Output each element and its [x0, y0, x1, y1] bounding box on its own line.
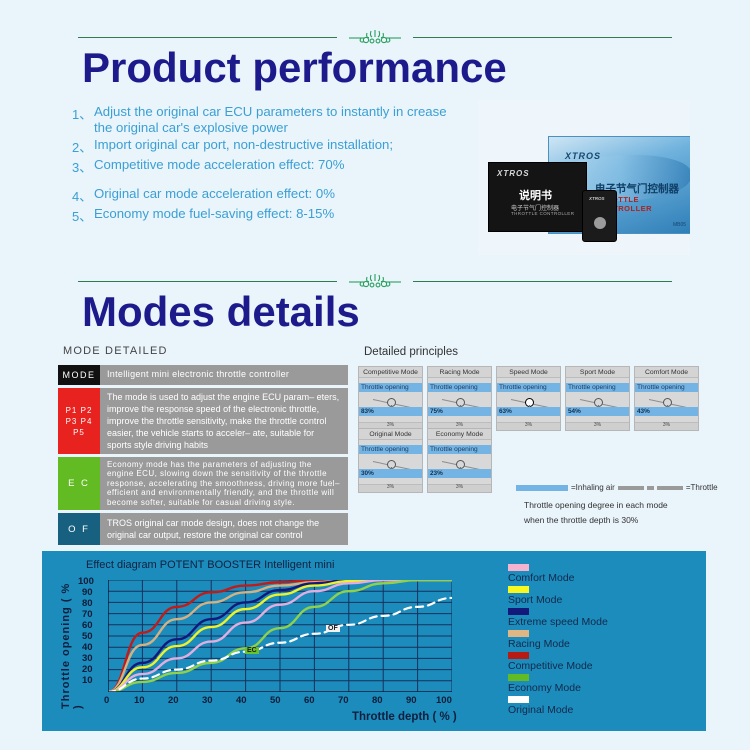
- list-item-text: Adjust the original car ECU parameters t…: [94, 104, 467, 136]
- effect-diagram-chart: Effect diagram POTENT BOOSTER Intelligen…: [42, 551, 706, 731]
- chart-title: Effect diagram POTENT BOOSTER Intelligen…: [86, 559, 334, 571]
- throttle-opening-band: Throttle opening: [497, 383, 560, 392]
- y-tick-label: 80: [82, 598, 93, 609]
- legend-note-line-1: Throttle opening degree in each mode: [524, 498, 731, 513]
- percent-band: 43%: [635, 407, 698, 416]
- foot-label: 3%: [663, 422, 670, 428]
- legend-item: Extreme speed Mode: [508, 608, 703, 629]
- legend-swatch: [508, 696, 529, 703]
- table-row: MODE Intelligent mini electronic throttl…: [58, 365, 348, 385]
- list-item-text: Competitive mode acceleration effect: 70…: [94, 157, 344, 176]
- throttle-dial-icon: [663, 398, 672, 407]
- throttle-opening-band: Throttle opening: [566, 383, 629, 392]
- chart-legend: Comfort Mode Sport Mode Extreme speed Mo…: [508, 564, 703, 718]
- throttle-swatch-c: [657, 486, 683, 490]
- throttle-label: =Throttle: [686, 483, 718, 492]
- list-item: 3、 Competitive mode acceleration effect:…: [72, 157, 467, 176]
- page-title-product-performance: Product performance: [82, 44, 507, 92]
- legend-item: Comfort Mode: [508, 564, 703, 585]
- x-tick-label: 40: [236, 695, 247, 706]
- device-brand-logo: XTROS: [589, 196, 605, 201]
- product-manual: XTROS 说明书 电子节气门控制器 THROTTLE CONTROLLER: [488, 162, 587, 232]
- throttle-dial-icon: [594, 398, 603, 407]
- x-tick-label: 80: [372, 695, 383, 706]
- list-item-text: Original car mode acceleration effect: 0…: [94, 186, 335, 205]
- foot-label: 3%: [594, 422, 601, 428]
- mode-card: Speed Mode Throttle opening 63% 3%: [496, 366, 561, 431]
- divider-line-left: [78, 37, 337, 38]
- mode-key: P1 P2 P3 P4 P5: [58, 388, 100, 454]
- list-item-text: Import original car port, non-destructiv…: [94, 137, 393, 156]
- list-item: 1、 Adjust the original car ECU parameter…: [72, 104, 467, 136]
- principles-legend: =Inhaling air =Throttle Throttle opening…: [516, 483, 731, 528]
- mode-card-body: Throttle opening 63%: [497, 378, 560, 422]
- mode-card-body: Throttle opening 43%: [635, 378, 698, 422]
- throttle-dial-icon: [387, 398, 396, 407]
- x-tick-label: 0: [104, 695, 109, 706]
- throttle-dial-icon: [456, 460, 465, 469]
- y-tick-label: 90: [82, 587, 93, 598]
- percent-band: 83%: [359, 407, 422, 416]
- x-tick-label: 10: [134, 695, 145, 706]
- chart-x-axis-label: Throttle depth ( % ): [352, 711, 457, 723]
- mode-card-foot: 3%: [428, 484, 491, 492]
- mode-key: O F: [58, 513, 100, 545]
- legend-label: Sport Mode: [508, 594, 703, 607]
- list-item: 2、 Import original car port, non-destruc…: [72, 137, 467, 156]
- mode-card-body: Throttle opening 23%: [428, 440, 491, 484]
- y-tick-label: 100: [78, 576, 94, 587]
- throttle-opening-band: Throttle opening: [428, 383, 491, 392]
- mode-card: Economy Mode Throttle opening 23% 3%: [427, 428, 492, 493]
- legend-item: Original Mode: [508, 696, 703, 717]
- device-button-icon: [594, 217, 606, 229]
- box-code: MB05: [673, 222, 686, 228]
- mode-card: Racing Mode Throttle opening 75% 3%: [427, 366, 492, 431]
- mode-card: Comfort Mode Throttle opening 43% 3%: [634, 366, 699, 431]
- mode-card-body: Throttle opening 83%: [359, 378, 422, 422]
- mode-card-body: Throttle opening 30%: [359, 440, 422, 484]
- list-item-number: 4、: [72, 186, 94, 205]
- legend-item: Sport Mode: [508, 586, 703, 607]
- mode-key: MODE: [58, 365, 100, 385]
- throttle-swatch-a: [618, 486, 644, 490]
- x-tick-label: 50: [270, 695, 281, 706]
- throttle-dial-icon: [525, 398, 534, 407]
- mode-card-title: Sport Mode: [566, 367, 629, 378]
- throttle-opening-band: Throttle opening: [359, 445, 422, 454]
- foot-label: 3%: [387, 484, 394, 490]
- table-row: E C Economy mode has the parameters of a…: [58, 457, 348, 510]
- legend-label: Comfort Mode: [508, 572, 703, 585]
- legend-swatch: [508, 586, 529, 593]
- chart-annotation-of: OF: [326, 625, 340, 632]
- y-tick-label: 10: [82, 675, 93, 686]
- inhaling-air-label: =Inhaling air: [571, 483, 615, 492]
- manual-sub-en: THROTTLE CONTROLLER: [511, 211, 574, 216]
- mode-detailed-table: MODE Intelligent mini electronic throttl…: [58, 365, 348, 548]
- mode-card-title: Racing Mode: [428, 367, 491, 378]
- legend-swatch: [508, 630, 529, 637]
- mode-card-foot: 3%: [497, 422, 560, 430]
- y-tick-label: 20: [82, 664, 93, 675]
- mode-description: TROS original car mode design, does not …: [100, 513, 348, 545]
- mode-card: Sport Mode Throttle opening 54% 3%: [565, 366, 630, 431]
- x-tick-label: 90: [406, 695, 417, 706]
- product-device: XTROS: [582, 190, 617, 242]
- throttle-opening-band: Throttle opening: [359, 383, 422, 392]
- mode-card: Competitive Mode Throttle opening 83% 3%: [358, 366, 423, 431]
- mode-card-title: Comfort Mode: [635, 367, 698, 378]
- y-tick-label: 60: [82, 620, 93, 631]
- x-tick-label: 70: [338, 695, 349, 706]
- mode-card-body: Throttle opening 54%: [566, 378, 629, 422]
- product-performance-list: 1、 Adjust the original car ECU parameter…: [72, 104, 467, 226]
- chart-y-axis-label: Throttle opening ( % ): [60, 577, 84, 709]
- mode-card-foot: 3%: [635, 422, 698, 430]
- manual-title-cn: 说明书: [519, 187, 552, 203]
- mode-card-foot: 3%: [359, 484, 422, 492]
- percent-band: 75%: [428, 407, 491, 416]
- legend-label: Original Mode: [508, 704, 703, 717]
- product-infographic: Product performance 1、 Adjust the origin…: [0, 0, 750, 750]
- list-item: 5、 Economy mode fuel-saving effect: 8-15…: [72, 206, 467, 225]
- list-item-number: 2、: [72, 137, 94, 156]
- manual-brand-logo: XTROS: [497, 169, 530, 178]
- legend-swatch-row: =Inhaling air =Throttle: [516, 483, 731, 492]
- legend-label: Economy Mode: [508, 682, 703, 695]
- list-item-number: 3、: [72, 157, 94, 176]
- principle-cards-row-2: Original Mode Throttle opening 30% 3% Ec…: [358, 428, 492, 493]
- y-tick-label: 50: [82, 631, 93, 642]
- mode-detailed-label: MODE DETAILED: [63, 345, 168, 357]
- y-tick-label: 30: [82, 653, 93, 664]
- list-item: 4、 Original car mode acceleration effect…: [72, 186, 467, 205]
- mode-card: Original Mode Throttle opening 30% 3%: [358, 428, 423, 493]
- legend-item: Racing Mode: [508, 630, 703, 651]
- x-tick-label: 30: [202, 695, 213, 706]
- chart-annotation-ec: EC: [245, 647, 259, 654]
- throttle-dial-icon: [456, 398, 465, 407]
- mode-card-body: Throttle opening 75%: [428, 378, 491, 422]
- inhaling-air-swatch: [516, 485, 568, 491]
- throttle-dial-icon: [387, 460, 396, 469]
- mode-card-foot: 3%: [566, 422, 629, 430]
- mode-card-title: Original Mode: [359, 429, 422, 440]
- foot-label: 3%: [525, 422, 532, 428]
- mode-key: E C: [58, 457, 100, 510]
- chart-plot-area: [108, 580, 452, 692]
- list-item-number: 1、: [72, 104, 94, 136]
- page-title-modes-details: Modes details: [82, 288, 360, 336]
- x-tick-label: 60: [304, 695, 315, 706]
- table-row: P1 P2 P3 P4 P5 The mode is used to adjus…: [58, 388, 348, 454]
- legend-swatch: [508, 608, 529, 615]
- x-tick-label: 100: [436, 695, 452, 706]
- mode-card-title: Economy Mode: [428, 429, 491, 440]
- throttle-opening-band: Throttle opening: [428, 445, 491, 454]
- divider-line-right: [413, 281, 672, 282]
- list-item-text: Economy mode fuel-saving effect: 8-15%: [94, 206, 334, 225]
- legend-swatch: [508, 652, 529, 659]
- mode-card-title: Speed Mode: [497, 367, 560, 378]
- list-item-number: 5、: [72, 206, 94, 225]
- foot-label: 3%: [456, 484, 463, 490]
- foot-label: 3%: [456, 422, 463, 428]
- divider-line-left: [78, 281, 337, 282]
- detailed-principles-label: Detailed principles: [364, 346, 458, 358]
- product-photo: XTROS 电子节气门控制器 THROTTLE CONTROLLER MB05 …: [478, 100, 690, 255]
- legend-item: Economy Mode: [508, 674, 703, 695]
- legend-label: Extreme speed Mode: [508, 616, 703, 629]
- divider-line-right: [413, 37, 672, 38]
- foot-label: 3%: [387, 422, 394, 428]
- mode-card-title: Competitive Mode: [359, 367, 422, 378]
- y-tick-label: 40: [82, 642, 93, 653]
- x-tick-label: 20: [168, 695, 179, 706]
- legend-item: Competitive Mode: [508, 652, 703, 673]
- mode-description: Intelligent mini electronic throttle con…: [100, 365, 348, 385]
- legend-label: Competitive Mode: [508, 660, 703, 673]
- percent-band: 30%: [359, 469, 422, 478]
- legend-label: Racing Mode: [508, 638, 703, 651]
- mode-description: Economy mode has the parameters of adjus…: [100, 457, 348, 510]
- y-tick-label: 70: [82, 609, 93, 620]
- table-row: O F TROS original car mode design, does …: [58, 513, 348, 545]
- throttle-opening-band: Throttle opening: [635, 383, 698, 392]
- legend-swatch: [508, 674, 529, 681]
- legend-note-line-2: when the throttle depth is 30%: [524, 513, 731, 528]
- legend-swatch: [508, 564, 529, 571]
- percent-band: 63%: [497, 407, 560, 416]
- principle-cards-row-1: Competitive Mode Throttle opening 83% 3%…: [358, 366, 699, 431]
- list-spacer: [72, 177, 467, 186]
- box-brand-logo: XTROS: [565, 151, 601, 161]
- throttle-swatch-b: [647, 486, 654, 490]
- percent-band: 23%: [428, 469, 491, 478]
- percent-band: 54%: [566, 407, 629, 416]
- mode-description: The mode is used to adjust the engine EC…: [100, 388, 348, 454]
